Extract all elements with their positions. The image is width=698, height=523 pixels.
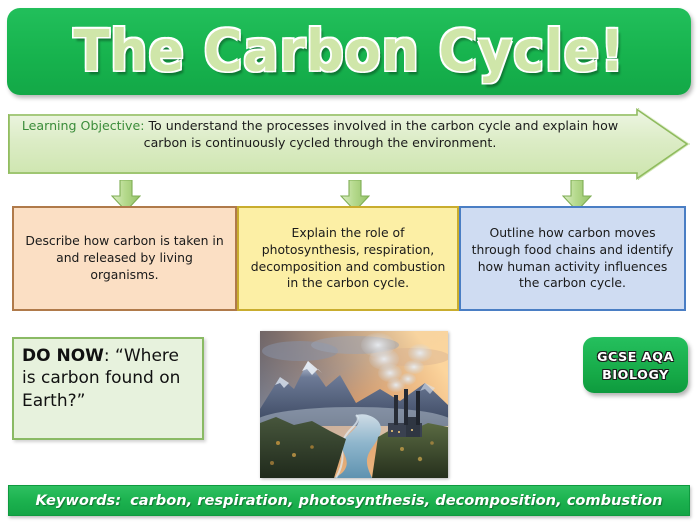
keywords-label: Keywords: [35,492,121,509]
objective-box-1: Describe how carbon is taken in and rele… [12,206,237,311]
do-now-label: DO NOW [22,346,104,366]
learning-objective-label: Learning Objective: [22,118,145,133]
gcse-aqa-biology-badge: GCSE AQA BIOLOGY [583,337,688,393]
learning-objective-body: To understand the processes involved in … [144,118,618,150]
objective-text-1: Describe how carbon is taken in and rele… [21,233,228,284]
keywords-terms: carbon, respiration, photosynthesis, dec… [130,492,662,509]
carbon-cycle-scene-image [260,331,448,478]
objective-text-3: Outline how carbon moves through food ch… [468,225,677,292]
slide-title-banner: The Carbon Cycle! [7,8,691,95]
objective-box-3: Outline how carbon moves through food ch… [459,206,686,311]
keywords-bar: Keywords: carbon, respiration, photosynt… [8,485,690,516]
objective-box-2: Explain the role of photosynthesis, resp… [237,206,459,311]
do-now-box: DO NOW: “Where is carbon found on Earth?… [12,337,204,440]
badge-line-1: GCSE AQA [597,349,674,364]
objective-text-2: Explain the role of photosynthesis, resp… [246,225,450,292]
scene-illustration-icon [260,331,448,478]
learning-objective-text: Learning Objective: To understand the pr… [20,117,620,152]
page-title: The Carbon Cycle! [73,23,624,80]
badge-line-2: BIOLOGY [602,367,669,382]
learning-objective-banner: Learning Objective: To understand the pr… [8,108,690,180]
